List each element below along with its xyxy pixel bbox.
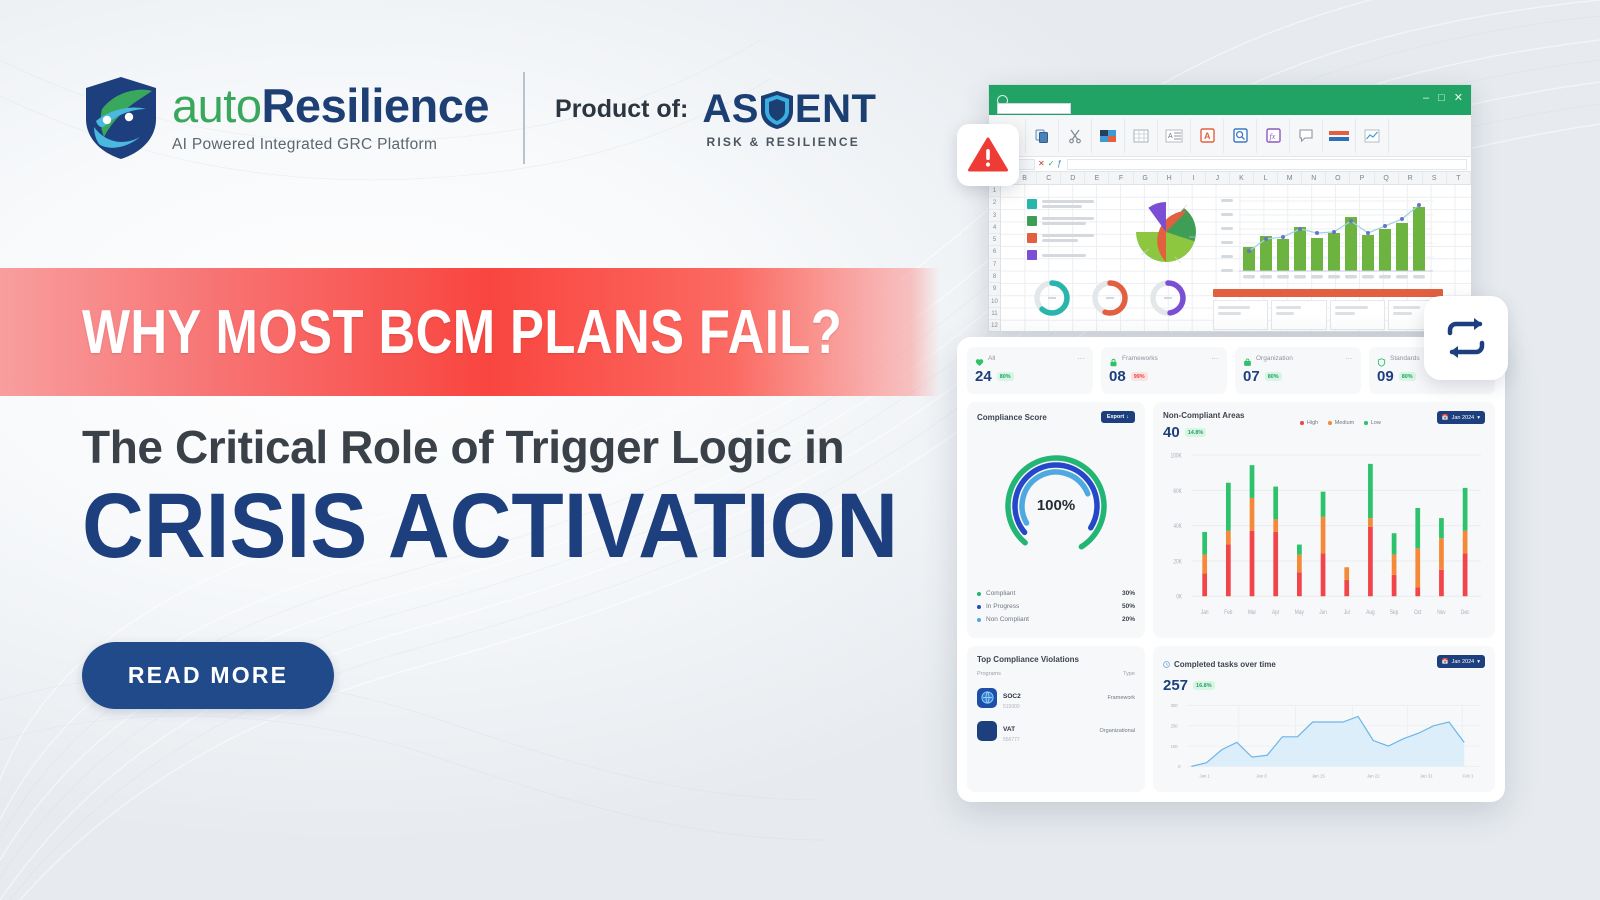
kpi-label: All: [988, 355, 995, 362]
column-header[interactable]: C: [1037, 172, 1061, 184]
row-headers[interactable]: 1 2 3 4 5 6 7 8 9 10 11 12: [989, 185, 1001, 332]
dashboard-panel: All ⋯ 24 80% Frameworks ⋯ 08: [957, 337, 1505, 802]
non-compliant-trend-badge: 14.8%: [1185, 428, 1207, 437]
svg-text:100: 100: [1171, 744, 1179, 749]
legend-row: Non Compliant 20%: [977, 616, 1135, 623]
svg-text:100K: 100K: [1171, 453, 1182, 460]
legend-item-low: Low: [1364, 420, 1381, 426]
insert-function-icon[interactable]: ƒ: [1057, 160, 1061, 168]
row-header[interactable]: 4: [989, 222, 1000, 234]
legend-placeholder-text: [1042, 234, 1094, 242]
row-header[interactable]: 3: [989, 210, 1000, 222]
kpi-menu-icon[interactable]: ⋯: [1211, 355, 1219, 363]
spreadsheet-donut-gauges: [1031, 277, 1189, 319]
chart-table-icon[interactable]: [1323, 119, 1356, 153]
non-compliant-title: Non-Compliant Areas: [1163, 411, 1245, 420]
kpi-label: Standards: [1390, 355, 1420, 362]
vat-logo-icon: [977, 721, 997, 741]
compliance-gauge: 100%: [977, 423, 1135, 588]
table-header-bar: [1213, 289, 1443, 297]
violation-type: Organizational: [1100, 728, 1135, 734]
confirm-icon[interactable]: ✓: [1048, 160, 1055, 168]
legend-dot: [1300, 421, 1304, 425]
svg-text:Jan 1: Jan 1: [1199, 774, 1210, 779]
table-row: [1213, 300, 1443, 330]
completed-tasks-value: 257: [1163, 677, 1188, 694]
row-header[interactable]: 12: [989, 320, 1000, 332]
eyebrow-title: WHY MOST BCM PLANS FAIL?: [82, 297, 842, 368]
column-header[interactable]: G: [1134, 172, 1158, 184]
column-header[interactable]: Q: [1375, 172, 1399, 184]
kpi-label: Organization: [1256, 355, 1293, 362]
kpi-card-row: All ⋯ 24 80% Frameworks ⋯ 08: [967, 347, 1495, 394]
spreadsheet-pie-chart: [1129, 195, 1203, 274]
completed-tasks-area-chart: 3002501000 Jan 1Jan 8Jan 15 Jan 22Jan 31…: [1163, 698, 1485, 783]
svg-text:A: A: [1168, 133, 1173, 140]
svg-text:40K: 40K: [1173, 524, 1182, 531]
non-compliant-areas-card: Non-Compliant Areas 40 14.8% High Medium: [1153, 402, 1495, 638]
legend-item: [1027, 250, 1094, 260]
column-header[interactable]: T: [1447, 172, 1471, 184]
minimize-icon[interactable]: –: [1423, 93, 1429, 104]
formula-icon[interactable]: fx: [1257, 119, 1290, 153]
kpi-value: 07: [1243, 368, 1260, 385]
row-header[interactable]: 6: [989, 246, 1000, 258]
kpi-menu-icon[interactable]: ⋯: [1077, 355, 1085, 363]
non-compliant-value: 40: [1163, 424, 1180, 441]
column-header[interactable]: I: [1182, 172, 1206, 184]
svg-text:A: A: [1204, 131, 1211, 141]
row-header[interactable]: 10: [989, 296, 1000, 308]
cancel-icon[interactable]: ✕: [1038, 160, 1045, 168]
product-of-block: Product of: AS ENT RISK & RESILIENCE: [555, 87, 876, 149]
close-icon[interactable]: ✕: [1454, 93, 1463, 104]
column-programs: Programs: [977, 671, 1001, 677]
brand-tagline: AI Powered Integrated GRC Platform: [172, 136, 489, 154]
severity-legend: High Medium Low: [1300, 420, 1380, 426]
column-header[interactable]: M: [1278, 172, 1302, 184]
row-header[interactable]: 5: [989, 234, 1000, 246]
legend-swatch: [1027, 199, 1037, 209]
svg-text:20K: 20K: [1173, 559, 1182, 566]
legend-label: In Progress: [986, 603, 1019, 610]
legend-placeholder-text: [1042, 217, 1094, 225]
svg-text:Feb 1: Feb 1: [1463, 774, 1475, 779]
row-header[interactable]: 1: [989, 185, 1000, 197]
clock-icon: [1163, 655, 1170, 673]
brand-name: autoResilience: [172, 82, 489, 129]
export-label: Export: [1107, 414, 1124, 420]
svg-text:Jan 15: Jan 15: [1312, 774, 1325, 779]
legend-dot: [1364, 421, 1368, 425]
completed-tasks-title: Completed tasks over time: [1174, 660, 1276, 669]
top-violations-title: Top Compliance Violations: [977, 655, 1135, 664]
formula-input[interactable]: [1067, 159, 1467, 170]
svg-text:Jan 8: Jan 8: [1256, 774, 1267, 779]
pie-chart-legend: [1027, 199, 1094, 267]
spreadsheet-window: – □ ✕ A A fx: [988, 84, 1472, 332]
column-header[interactable]: R: [1399, 172, 1423, 184]
brand-text-block: autoResilience AI Powered Integrated GRC…: [172, 82, 489, 154]
paste-format-icon[interactable]: [1092, 119, 1125, 153]
donut-gauge: [1031, 277, 1073, 319]
svg-text:May: May: [1295, 609, 1304, 616]
legend-value: 50%: [1122, 603, 1135, 610]
brand-name-suffix: Resilience: [261, 79, 489, 132]
chevron-down-icon: ▾: [1477, 659, 1480, 665]
row-header[interactable]: 2: [989, 197, 1000, 209]
ascent-text-right: ENT: [795, 87, 877, 132]
kpi-card-frameworks[interactable]: Frameworks ⋯ 08 99%: [1101, 347, 1227, 394]
kpi-trend-badge: 99%: [1131, 372, 1148, 381]
table-cell: [1330, 300, 1385, 330]
violation-type: Framework: [1107, 695, 1135, 701]
legend-row: Compliant 30%: [977, 590, 1135, 597]
svg-text:Mar: Mar: [1248, 609, 1256, 616]
table-cell: [1271, 300, 1326, 330]
legend-item: [1027, 216, 1094, 226]
legend-swatch: [1027, 233, 1037, 243]
export-button[interactable]: Export ↓: [1101, 411, 1135, 423]
column-header[interactable]: O: [1326, 172, 1350, 184]
spreadsheet-grid[interactable]: 1 2 3 4 5 6 7 8 9 10 11 12: [989, 185, 1471, 332]
legend-swatch: [1027, 250, 1037, 260]
kpi-card-all[interactable]: All ⋯ 24 80%: [967, 347, 1093, 394]
violation-id: 556777: [1003, 737, 1020, 743]
ascent-tagline: RISK & RESILIENCE: [555, 135, 876, 149]
legend-item-high: High: [1300, 420, 1318, 426]
table-cell: [1213, 300, 1268, 330]
headline-block: The Critical Role of Trigger Logic in CR…: [82, 420, 959, 574]
compliance-score-card: Compliance Score Export ↓ 100% Compliant: [967, 402, 1145, 638]
legend-label: Medium: [1335, 420, 1355, 426]
column-header[interactable]: D: [1061, 172, 1085, 184]
svg-text:Jun: Jun: [1319, 609, 1327, 616]
column-header[interactable]: H: [1158, 172, 1182, 184]
legend-dot: [977, 592, 981, 596]
date-picker-label: Jan 2024: [1452, 659, 1475, 665]
quick-access-field[interactable]: [997, 103, 1071, 114]
svg-text:0: 0: [1178, 764, 1181, 769]
spreadsheet-table-preview: [1213, 289, 1443, 330]
product-of-label: Product of:: [555, 95, 688, 124]
svg-text:Sep: Sep: [1390, 609, 1398, 616]
svg-text:Jul: Jul: [1344, 609, 1350, 616]
chevron-down-icon: ▾: [1477, 415, 1480, 421]
legend-label: Compliant: [986, 590, 1015, 597]
soc2-logo-icon: [977, 688, 997, 708]
column-header[interactable]: K: [1230, 172, 1254, 184]
column-header[interactable]: E: [1085, 172, 1109, 184]
ascent-shield-icon: [760, 90, 794, 130]
legend-label: Low: [1371, 420, 1381, 426]
comment-icon[interactable]: [1290, 119, 1323, 153]
kpi-value: 08: [1109, 368, 1126, 385]
donut-gauge: [1147, 277, 1189, 319]
violations-column-headers: Programs Type: [977, 671, 1135, 677]
svg-text:Oct: Oct: [1414, 609, 1422, 616]
shield-icon: [1377, 354, 1386, 363]
ascent-text-left: AS: [702, 87, 759, 132]
column-headers[interactable]: A B C D E F G H I J K L M N O P Q R S T: [989, 172, 1471, 185]
row-header[interactable]: 9: [989, 283, 1000, 295]
legend-item: [1027, 233, 1094, 243]
lock-icon: [1109, 354, 1118, 363]
dashboard-bottom-row: Top Compliance Violations Programs Type …: [967, 646, 1495, 792]
legend-dot: [1328, 421, 1332, 425]
violation-row[interactable]: SOC2 515000 Framework: [977, 685, 1135, 710]
completed-tasks-card: Completed tasks over time 257 16.8% 📅 Ja…: [1153, 646, 1495, 792]
kpi-value: 24: [975, 368, 992, 385]
legend-placeholder-text: [1042, 200, 1094, 208]
svg-text:Jan: Jan: [1201, 609, 1209, 616]
maximize-icon[interactable]: □: [1438, 93, 1445, 104]
kpi-menu-icon[interactable]: ⋯: [1345, 355, 1353, 363]
line-chart-icon[interactable]: [1356, 119, 1389, 153]
spreadsheet-toolbar[interactable]: A A fx: [989, 115, 1471, 157]
svg-text:Feb: Feb: [1224, 609, 1232, 616]
row-header[interactable]: 11: [989, 308, 1000, 320]
download-icon: ↓: [1126, 414, 1129, 420]
column-header[interactable]: J: [1206, 172, 1230, 184]
font-color-icon[interactable]: A: [1191, 119, 1224, 153]
column-header[interactable]: S: [1423, 172, 1447, 184]
column-header[interactable]: L: [1254, 172, 1278, 184]
non-compliant-bar-chart: 100K60K40K 20K0K: [1163, 445, 1485, 629]
violation-name: VAT: [1003, 726, 1015, 733]
svg-text:Jan 31: Jan 31: [1420, 774, 1433, 779]
legend-swatch: [1027, 216, 1037, 226]
read-more-button[interactable]: READ MORE: [82, 642, 334, 709]
svg-text:250: 250: [1171, 724, 1179, 729]
formula-bar[interactable]: ✕ ✓ ƒ: [989, 157, 1471, 172]
legend-dot: [977, 618, 981, 622]
svg-text:Dec: Dec: [1461, 609, 1470, 616]
kpi-label: Frameworks: [1122, 355, 1158, 362]
column-type: Type: [1123, 671, 1135, 677]
bag-icon: [1243, 354, 1252, 363]
brand-name-prefix: auto: [172, 79, 261, 132]
svg-text:0K: 0K: [1176, 594, 1182, 601]
spreadsheet-title-bar: – □ ✕: [989, 85, 1471, 115]
headline-line-1: The Critical Role of Trigger Logic in: [82, 420, 959, 474]
violation-id: 515000: [1003, 704, 1021, 710]
legend-row: In Progress 50%: [977, 603, 1135, 610]
kpi-trend-badge: 80%: [997, 372, 1014, 381]
legend-item-medium: Medium: [1328, 420, 1354, 426]
align-text-icon[interactable]: A: [1158, 119, 1191, 153]
svg-text:Jan 22: Jan 22: [1367, 774, 1380, 779]
svg-text:300: 300: [1171, 703, 1179, 708]
table-icon[interactable]: [1125, 119, 1158, 153]
heart-icon: [975, 354, 984, 363]
window-controls[interactable]: – □ ✕: [1423, 93, 1463, 104]
legend-value: 20%: [1122, 616, 1135, 623]
headline-line-2: CRISIS ACTIVATION: [82, 480, 898, 574]
brand-logo-row: autoResilience AI Powered Integrated GRC…: [82, 72, 876, 164]
legend-item: [1027, 199, 1094, 209]
calendar-icon: 📅: [1442, 415, 1449, 421]
svg-text:Aug: Aug: [1366, 609, 1374, 616]
svg-text:60K: 60K: [1173, 488, 1182, 495]
svg-text:Nov: Nov: [1437, 609, 1446, 616]
violation-row[interactable]: VAT 556777 Organizational: [977, 718, 1135, 743]
sync-badge-card: [1424, 296, 1508, 380]
date-picker-completed[interactable]: 📅 Jan 2024 ▾: [1437, 655, 1485, 668]
ascent-wordmark: AS ENT: [702, 87, 876, 132]
legend-label: High: [1307, 420, 1318, 426]
completed-trend-badge: 16.8%: [1193, 681, 1215, 690]
svg-text:Apr: Apr: [1272, 609, 1279, 616]
legend-value: 30%: [1122, 590, 1135, 597]
column-header[interactable]: N: [1302, 172, 1326, 184]
cut-icon[interactable]: [1059, 119, 1092, 153]
kpi-value: 09: [1377, 368, 1394, 385]
date-picker-label: Jan 2024: [1452, 415, 1475, 421]
column-header[interactable]: P: [1350, 172, 1374, 184]
legend-dot: [977, 605, 981, 609]
kpi-trend-badge: 80%: [1265, 372, 1282, 381]
svg-text:fx: fx: [1269, 132, 1275, 141]
violation-name: SOC2: [1003, 693, 1021, 700]
donut-gauge: [1089, 277, 1131, 319]
kpi-trend-badge: 80%: [1399, 372, 1416, 381]
spreadsheet-bar-line-chart: [1217, 193, 1439, 288]
date-picker-non-compliant[interactable]: 📅 Jan 2024 ▾: [1437, 411, 1485, 424]
column-header[interactable]: F: [1109, 172, 1133, 184]
legend-label: Non Compliant: [986, 616, 1029, 623]
row-header[interactable]: 7: [989, 259, 1000, 271]
row-header[interactable]: 8: [989, 271, 1000, 283]
shield-swoosh-icon: [82, 75, 160, 161]
legend-placeholder-text: [1042, 254, 1086, 257]
kpi-card-organization[interactable]: Organization ⋯ 07 80%: [1235, 347, 1361, 394]
copy-icon[interactable]: [1026, 119, 1059, 153]
compliance-legend: Compliant 30% In Progress 50% Non Compli…: [977, 590, 1135, 629]
top-violations-card: Top Compliance Violations Programs Type …: [967, 646, 1145, 792]
warning-triangle-icon: [968, 137, 1008, 173]
find-icon[interactable]: [1224, 119, 1257, 153]
compliance-score-title: Compliance Score: [977, 413, 1047, 422]
calendar-icon: 📅: [1442, 659, 1449, 665]
sync-arrows-icon: [1440, 315, 1492, 361]
dashboard-middle-row: Compliance Score Export ↓ 100% Compliant: [967, 402, 1495, 638]
eyebrow-band: WHY MOST BCM PLANS FAIL?: [0, 268, 940, 396]
warning-badge-card: [957, 124, 1019, 186]
logo-divider: [523, 72, 525, 164]
compliance-gauge-value: 100%: [1037, 497, 1075, 514]
